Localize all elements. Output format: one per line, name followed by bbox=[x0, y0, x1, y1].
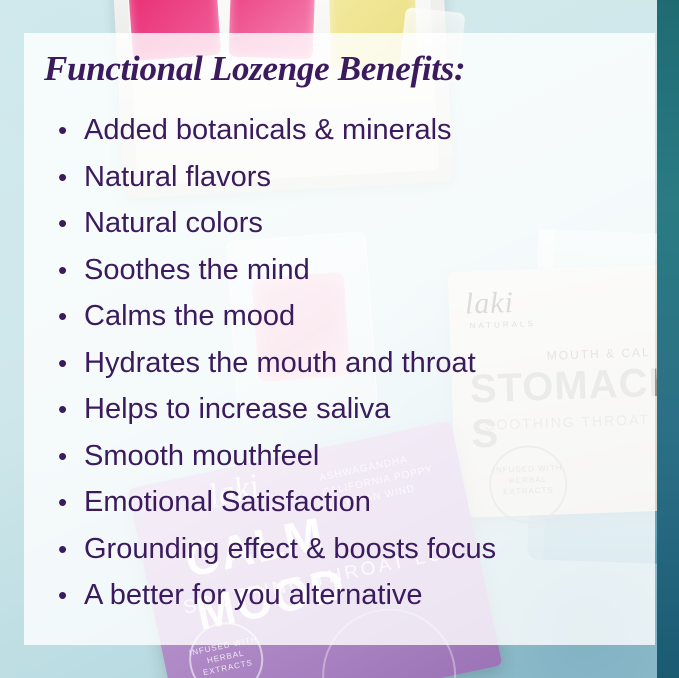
bullet-icon: • bbox=[58, 479, 84, 526]
benefit-item: •Calms the mood bbox=[58, 293, 658, 340]
bullet-icon: • bbox=[58, 154, 84, 201]
benefit-item-label: Hydrates the mouth and throat bbox=[84, 340, 476, 387]
benefit-item-label: Natural flavors bbox=[84, 154, 271, 201]
bullet-icon: • bbox=[58, 107, 84, 154]
benefit-item-label: A better for you alternative bbox=[84, 572, 423, 619]
benefit-item: •Helps to increase saliva bbox=[58, 386, 658, 433]
benefit-item: •A better for you alternative bbox=[58, 572, 658, 619]
benefit-item: •Natural flavors bbox=[58, 154, 658, 201]
benefits-overlay-card: Functional Lozenge Benefits: •Added bota… bbox=[24, 33, 655, 645]
benefit-item: •Smooth mouthfeel bbox=[58, 433, 658, 480]
bullet-icon: • bbox=[58, 433, 84, 480]
bullet-icon: • bbox=[58, 247, 84, 294]
benefit-item: •Soothes the mind bbox=[58, 247, 658, 294]
bullet-icon: • bbox=[58, 526, 84, 573]
product-photo-scene: laki NATURALS MOUTH & CAL STOMACH S SOOT… bbox=[0, 0, 679, 678]
benefit-item-label: Natural colors bbox=[84, 200, 263, 247]
benefit-item: •Hydrates the mouth and throat bbox=[58, 340, 658, 387]
benefit-item-label: Added botanicals & minerals bbox=[84, 107, 452, 154]
benefit-item: •Emotional Satisfaction bbox=[58, 479, 658, 526]
benefit-item-label: Soothes the mind bbox=[84, 247, 310, 294]
bullet-icon: • bbox=[58, 200, 84, 247]
page-title: Functional Lozenge Benefits: bbox=[44, 49, 465, 89]
benefit-item-label: Emotional Satisfaction bbox=[84, 479, 371, 526]
bullet-icon: • bbox=[58, 340, 84, 387]
benefits-list: •Added botanicals & minerals•Natural fla… bbox=[58, 107, 658, 619]
benefit-item: •Natural colors bbox=[58, 200, 658, 247]
right-edge-strip bbox=[657, 0, 679, 678]
bullet-icon: • bbox=[58, 572, 84, 619]
benefit-item-label: Calms the mood bbox=[84, 293, 295, 340]
benefit-item: •Added botanicals & minerals bbox=[58, 107, 658, 154]
benefit-item-label: Helps to increase saliva bbox=[84, 386, 390, 433]
benefit-item-label: Grounding effect & boosts focus bbox=[84, 526, 496, 573]
benefit-item-label: Smooth mouthfeel bbox=[84, 433, 319, 480]
bullet-icon: • bbox=[58, 293, 84, 340]
bullet-icon: • bbox=[58, 386, 84, 433]
benefit-item: •Grounding effect & boosts focus bbox=[58, 526, 658, 573]
